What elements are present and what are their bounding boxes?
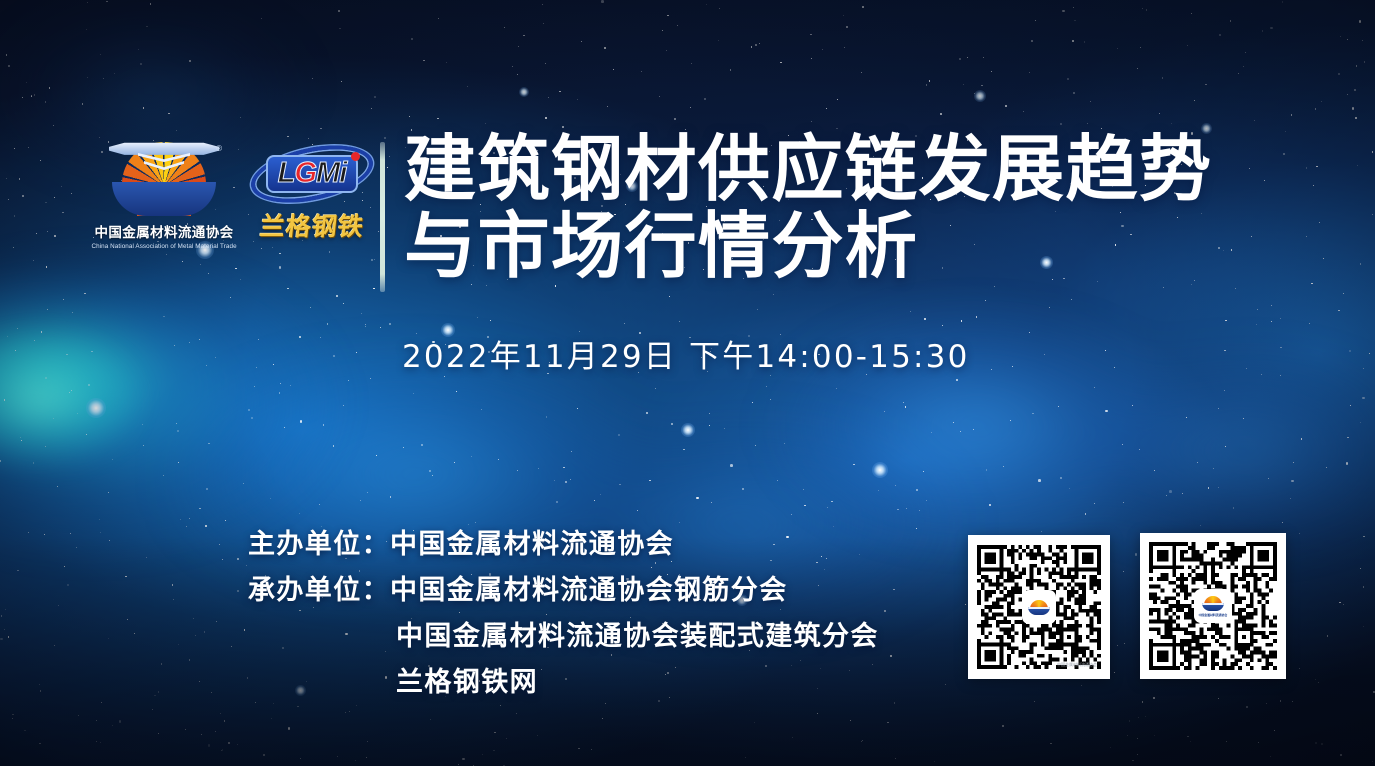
event-datetime: 2022年11月29日 下午14:00-15:30 [402, 331, 970, 376]
camt-wings-icon [109, 142, 219, 156]
qr-left-center-logo [1024, 592, 1054, 622]
lgmi-dot-icon [351, 152, 360, 161]
lgmi-wordmark: LGMi [278, 159, 347, 188]
qr-code-right[interactable]: 中国金属材料流通协会 [1140, 533, 1286, 679]
qr-left-credit: 中国金属材料流通协会 [1057, 662, 1097, 668]
organizer-line: 中国金属材料流通协会装配式建筑分会 [248, 614, 879, 660]
title-divider [380, 142, 385, 292]
lgmi-letter-i: i [339, 157, 346, 189]
lgmi-letter-g: G [294, 157, 316, 189]
lgmi-letter-m: M [316, 157, 339, 189]
mini-wing-icon-2 [1202, 603, 1224, 606]
lgmi-letter-l: L [278, 157, 295, 189]
camt-base-shape [112, 182, 216, 216]
camt-mini-emblem-icon-2 [1202, 596, 1224, 611]
organizer-line: 兰格钢铁网 [248, 660, 879, 706]
organizer-list: 主办单位：中国金属材料流通协会承办单位：中国金属材料流通协会钢筋分会中国金属材料… [248, 522, 879, 706]
qr-right-logo-caption: 中国金属材料流通协会 [1199, 612, 1228, 617]
event-poster: CAMT ® 中国金属材料流通协会 China National Associa… [0, 0, 1375, 766]
title-line-2: 与市场行情分析 [404, 208, 1234, 285]
lgmi-name-cn: 兰格钢铁 [258, 207, 366, 243]
page-title: 建筑钢材供应链发展趋势 与市场行情分析 [404, 131, 1234, 285]
qr-code-left[interactable]: 中国金属材料流通协会 [968, 535, 1110, 679]
camt-logo: CAMT ® 中国金属材料流通协会 China National Associa… [100, 140, 228, 250]
camt-emblem-icon: CAMT ® [108, 140, 220, 216]
organizer-line: 承办单位：中国金属材料流通协会钢筋分会 [248, 568, 879, 614]
qr-code-right-canvas: 中国金属材料流通协会 [1149, 542, 1277, 670]
organizer-line: 主办单位：中国金属材料流通协会 [248, 522, 879, 568]
lgmi-logo: LGMi 兰格钢铁 [246, 144, 378, 243]
qr-right-center-logo: 中国金属材料流通协会 [1196, 591, 1230, 621]
registered-trademark-icon: ® [216, 144, 222, 153]
qr-code-left-canvas: 中国金属材料流通协会 [977, 544, 1101, 670]
camt-name-cn: 中国金属材料流通协会 [95, 221, 234, 241]
camt-mini-emblem-icon [1028, 600, 1050, 615]
lgmi-emblem-icon: LGMi [248, 144, 376, 204]
title-line-1: 建筑钢材供应链发展趋势 [404, 131, 1234, 208]
camt-name-en: China National Association of Metal Mate… [91, 243, 236, 250]
logo-row: CAMT ® 中国金属材料流通协会 China National Associa… [100, 140, 378, 250]
mini-wing-icon [1028, 607, 1050, 610]
